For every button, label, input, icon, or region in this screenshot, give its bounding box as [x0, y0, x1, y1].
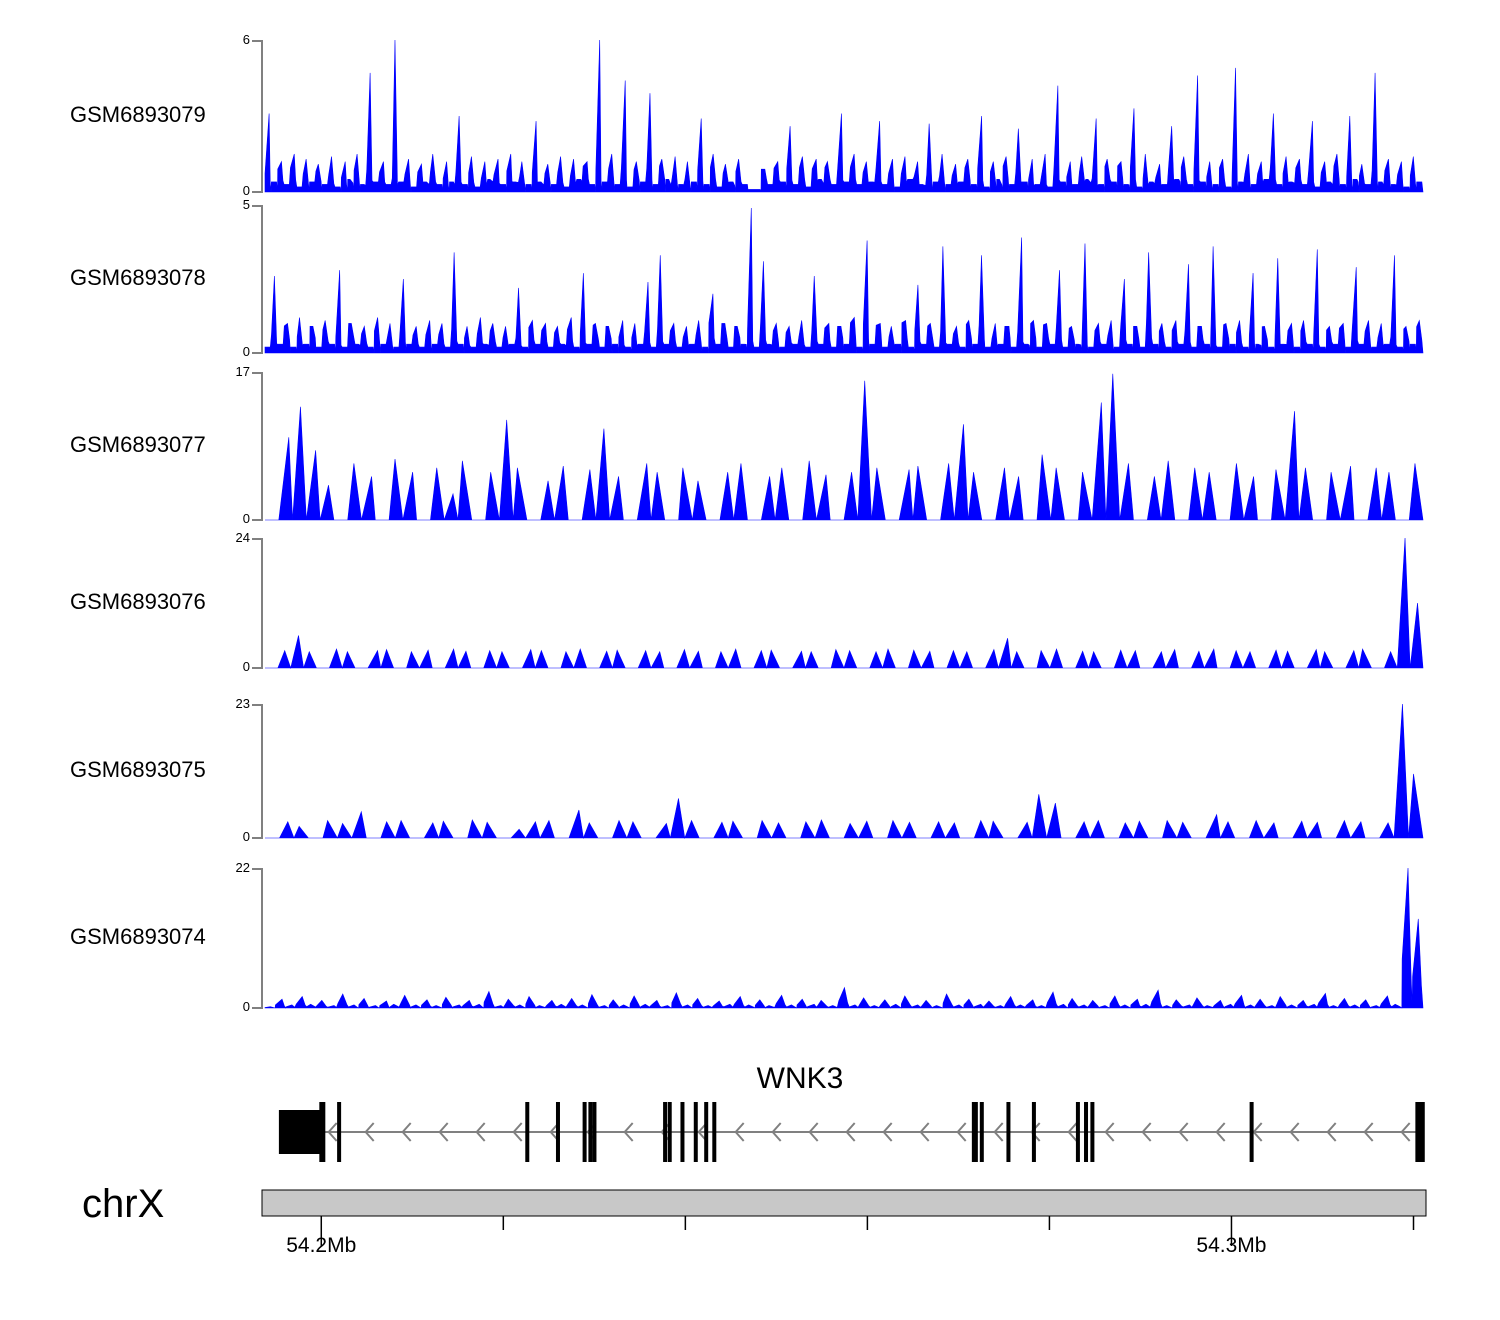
exon-bar: [556, 1102, 560, 1162]
coverage-area: [265, 538, 1423, 668]
exon-bar: [1032, 1102, 1036, 1162]
y-axis-spine: [252, 705, 262, 838]
coverage-track-GSM6893078: GSM689307850: [0, 205, 1500, 353]
exon-bar: [668, 1102, 672, 1162]
coverage-area: [265, 374, 1423, 520]
coverage-area: [265, 704, 1423, 838]
exon-bar: [1006, 1102, 1010, 1162]
y-axis-spine: [252, 373, 262, 520]
exon-bar: [1421, 1102, 1425, 1162]
exon-bar: [592, 1102, 596, 1162]
exon-bar: [663, 1102, 667, 1162]
y-axis-spine: [252, 41, 262, 192]
exon-bar: [1076, 1102, 1080, 1162]
coverage-track-GSM6893075: GSM6893075230: [0, 704, 1500, 838]
y-axis-spine: [252, 206, 262, 353]
coverage-plot-GSM6893079: [0, 40, 1500, 198]
coverage-area: [265, 868, 1423, 1008]
coverage-plot-GSM6893075: [0, 704, 1500, 844]
utr-block: [279, 1110, 321, 1154]
exon-bar: [337, 1102, 341, 1162]
exon-bar: [712, 1102, 716, 1162]
y-axis-spine: [252, 539, 262, 668]
coverage-plot-GSM6893074: [0, 868, 1500, 1014]
exon-bar: [704, 1102, 708, 1162]
coverage-plot-GSM6893077: [0, 372, 1500, 526]
coverage-plot-GSM6893078: [0, 205, 1500, 359]
coverage-track-GSM6893079: GSM689307960: [0, 40, 1500, 192]
exon-bar: [1084, 1102, 1088, 1162]
gene-model: [0, 1100, 1500, 1190]
exon-bar: [583, 1102, 587, 1162]
exon-bar: [525, 1102, 529, 1162]
exon-bar: [1415, 1102, 1421, 1162]
exon-bar: [319, 1102, 325, 1162]
exon-bar: [980, 1102, 984, 1162]
coverage-track-GSM6893074: GSM6893074220: [0, 868, 1500, 1008]
coverage-track-GSM6893076: GSM6893076240: [0, 538, 1500, 668]
coverage-track-GSM6893077: GSM6893077170: [0, 372, 1500, 520]
genome-browser: GSM689307960GSM689307850GSM6893077170GSM…: [0, 0, 1500, 1320]
exon-bar: [680, 1102, 684, 1162]
exon-bar: [972, 1102, 978, 1162]
coverage-area: [265, 40, 1423, 192]
exon-bar: [694, 1102, 698, 1162]
coverage-area: [265, 208, 1423, 353]
exon-bar: [1090, 1102, 1094, 1162]
ideogram-bar[interactable]: [0, 1188, 1500, 1248]
gene-name-label: WNK3: [700, 1062, 900, 1096]
coverage-plot-GSM6893076: [0, 538, 1500, 674]
y-axis-spine: [252, 869, 262, 1008]
exon-bar: [1250, 1102, 1254, 1162]
ideogram-rect: [262, 1190, 1426, 1216]
exon-bar: [588, 1102, 592, 1162]
